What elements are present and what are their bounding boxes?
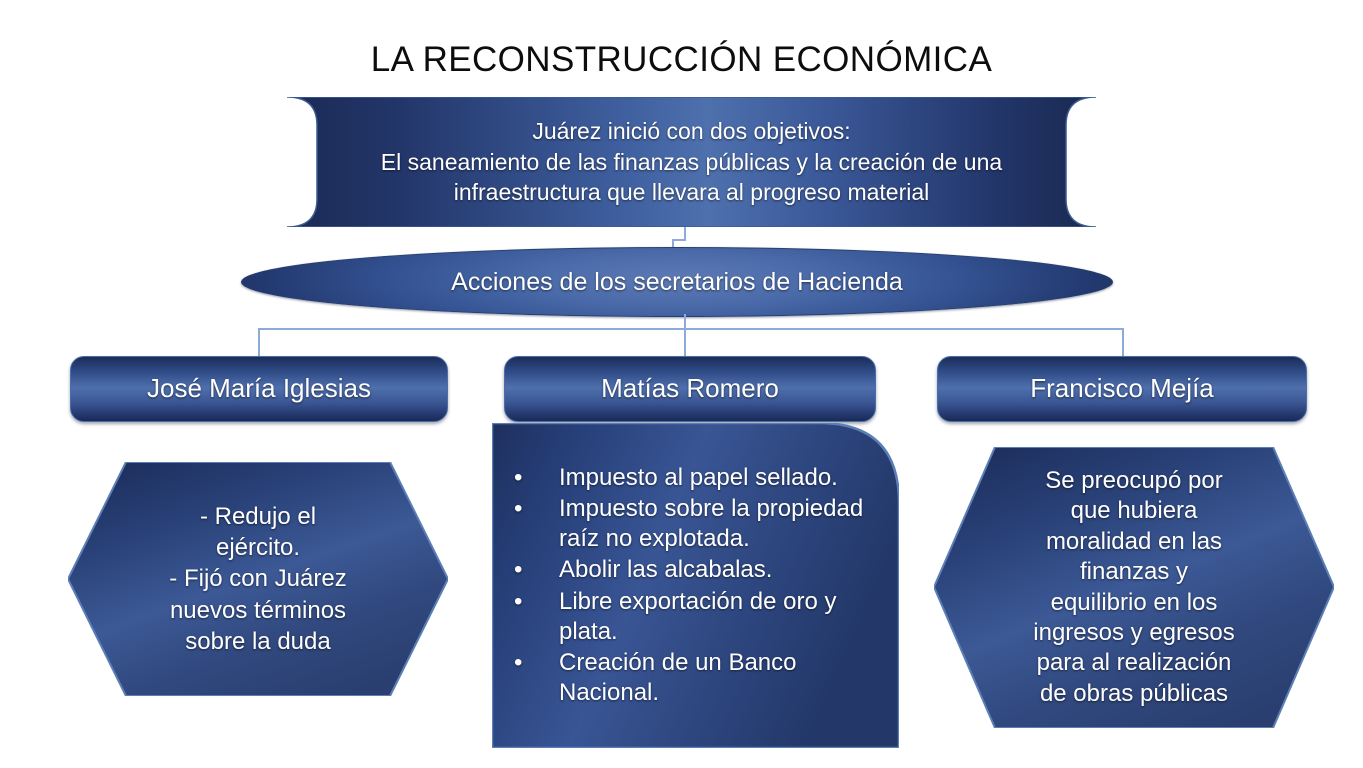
list-item: • Abolir las alcabalas. xyxy=(502,555,892,585)
bullet-dot-icon: • xyxy=(514,555,522,585)
detail-line: nuevos términos xyxy=(169,595,346,626)
detail-line: que hubiera xyxy=(1033,496,1234,526)
branch-name-label-1: José María Iglesias xyxy=(147,372,371,405)
bullet-dot-icon: • xyxy=(514,648,522,678)
top-objectives-box[interactable]: Juárez inició con dos objetivos: El sane… xyxy=(287,97,1096,227)
bullet-dot-icon: • xyxy=(514,494,522,524)
branch-name-label-3: Francisco Mejía xyxy=(1030,372,1214,405)
bullet-dot-icon: • xyxy=(514,587,522,617)
branch-detail-bullets-2[interactable]: • Impuesto al papel sellado. • Impuesto … xyxy=(492,423,899,748)
detail-line: moralidad en las xyxy=(1033,527,1234,557)
list-item: • Impuesto al papel sellado. xyxy=(502,463,892,493)
connector-plaque-jog xyxy=(672,239,686,241)
detail-line: Se preocupó por xyxy=(1033,466,1234,496)
bullet-text: Impuesto sobre la propiedad raíz no expl… xyxy=(559,495,863,552)
bullet-text: Impuesto al papel sellado. xyxy=(559,464,838,491)
connector-crossbar xyxy=(258,328,1124,330)
top-objectives-text: Juárez inició con dos objetivos: El sane… xyxy=(325,97,1058,227)
branch-name-box-1[interactable]: José María Iglesias xyxy=(70,356,448,422)
detail-line: - Fijó con Juárez xyxy=(169,563,346,594)
connector-plaque-down xyxy=(684,226,686,240)
bullet-dot-icon: • xyxy=(514,463,522,493)
connector-drop-middle xyxy=(684,328,686,358)
actions-ellipse[interactable]: Acciones de los secretarios de Hacienda xyxy=(241,247,1113,317)
slide-canvas: LA RECONSTRUCCIÓN ECONÓMICA Juárez inici… xyxy=(0,0,1363,768)
branch-name-box-3[interactable]: Francisco Mejía xyxy=(937,356,1307,422)
detail-line: ingresos y egresos xyxy=(1033,618,1234,648)
detail-line: equilibrio en los xyxy=(1033,588,1234,618)
bullet-text: Libre exportación de oro y plata. xyxy=(559,588,837,645)
detail-line: ejército. xyxy=(169,532,346,563)
branch-detail-text-3: Se preocupó por que hubiera moralidad en… xyxy=(984,447,1284,728)
top-objectives-line-3: infraestructura que llevara al progreso … xyxy=(381,177,1002,208)
top-objectives-line-2: El saneamiento de las finanzas públicas … xyxy=(381,147,1002,178)
branch-detail-hexagon-1[interactable]: - Redujo el ejército. - Fijó con Juárez … xyxy=(68,462,448,696)
detail-line: sobre la duda xyxy=(169,626,346,657)
list-item: • Impuesto sobre la propiedad raíz no ex… xyxy=(502,494,892,554)
branch-detail-hexagon-3[interactable]: Se preocupó por que hubiera moralidad en… xyxy=(934,447,1334,728)
detail-line: - Redujo el xyxy=(169,501,346,532)
page-title: LA RECONSTRUCCIÓN ECONÓMICA xyxy=(0,40,1363,80)
list-item: • Libre exportación de oro y plata. xyxy=(502,587,892,647)
bullet-text: Creación de un Banco Nacional. xyxy=(559,649,797,706)
actions-ellipse-label: Acciones de los secretarios de Hacienda xyxy=(241,247,1113,317)
branch-name-box-2[interactable]: Matías Romero xyxy=(504,356,876,422)
list-item: • Creación de un Banco Nacional. xyxy=(502,648,892,708)
detail-line: de obras públicas xyxy=(1033,679,1234,709)
bullet-list: • Impuesto al papel sellado. • Impuesto … xyxy=(502,431,892,741)
branch-name-label-2: Matías Romero xyxy=(601,372,779,405)
detail-line: para al realización xyxy=(1033,648,1234,678)
branch-detail-text-1: - Redujo el ejército. - Fijó con Juárez … xyxy=(122,462,394,696)
bullet-text: Abolir las alcabalas. xyxy=(559,556,772,583)
connector-drop-left xyxy=(258,328,260,358)
detail-line: finanzas y xyxy=(1033,557,1234,587)
top-objectives-line-1: Juárez inició con dos objetivos: xyxy=(381,116,1002,147)
connector-drop-right xyxy=(1122,328,1124,358)
